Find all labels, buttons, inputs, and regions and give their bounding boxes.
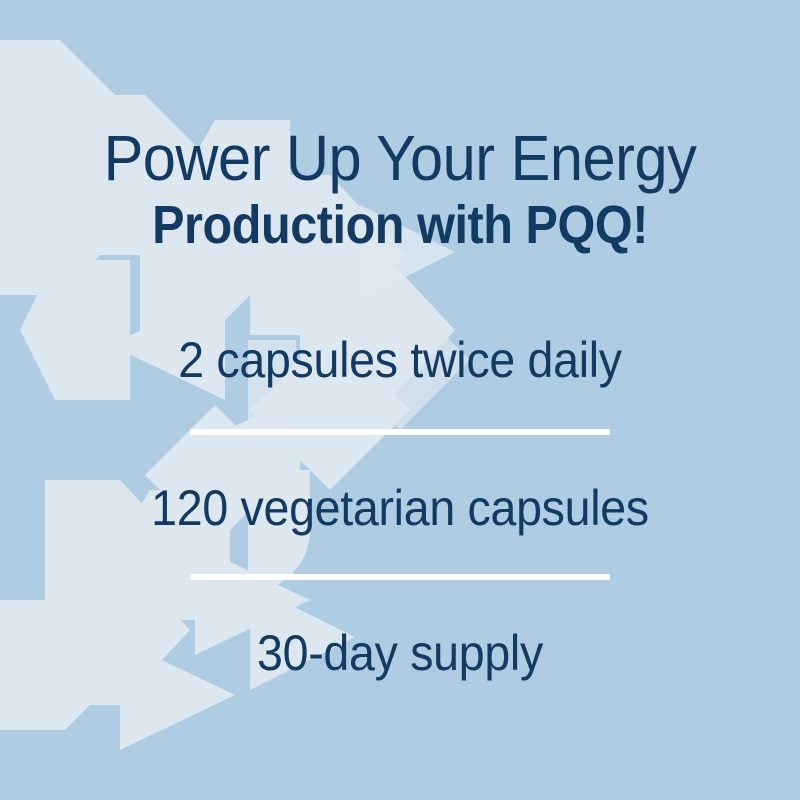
card-content: Power Up Your Energy Production with PQQ… (0, 0, 800, 800)
headline-row: Power Up Your Energy (0, 126, 800, 190)
page-subtitle: Production with PQQ! (40, 198, 760, 252)
page-title: Power Up Your Energy (28, 126, 772, 190)
divider-rule (190, 574, 610, 580)
divider-rule (190, 429, 610, 435)
divider-2 (0, 574, 800, 580)
fact-count: 120 vegetarian capsules (28, 483, 772, 533)
fact-row-2: 120 vegetarian capsules (0, 483, 800, 533)
fact-row-3: 30-day supply (0, 628, 800, 678)
fact-supply: 30-day supply (28, 628, 772, 678)
divider-1 (0, 429, 800, 435)
subheadline-row: Production with PQQ! (0, 198, 800, 252)
fact-dosage: 2 capsules twice daily (28, 335, 772, 385)
fact-row-1: 2 capsules twice daily (0, 335, 800, 385)
product-info-card: Power Up Your Energy Production with PQQ… (0, 0, 800, 800)
